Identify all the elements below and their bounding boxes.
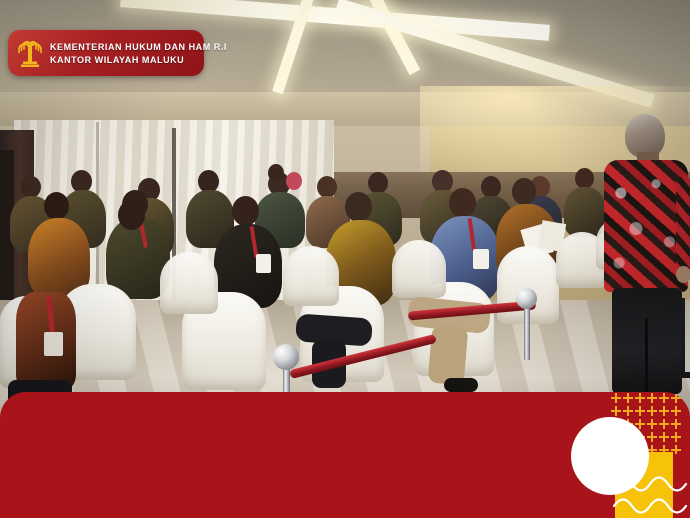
chair (160, 252, 218, 314)
wave-lines-decoration (612, 470, 690, 518)
person-head (449, 188, 476, 218)
person-head (481, 176, 501, 198)
person-head (268, 164, 284, 182)
person-head (118, 200, 145, 230)
speaker-hand (676, 266, 690, 283)
person-head (512, 178, 536, 205)
microphone-stand (681, 298, 685, 376)
institution-logo-badge: KEMENTERIAN HUKUM DAN HAM R.I KANTOR WIL… (8, 30, 204, 76)
speaker-arm (676, 176, 690, 272)
microphone-stand-base (670, 372, 690, 378)
person-head (317, 176, 337, 198)
stanchion-post (524, 300, 530, 360)
person-head (345, 192, 372, 222)
logo-line-1: KEMENTERIAN HUKUM DAN HAM R.I (50, 42, 227, 52)
person-head (232, 196, 259, 226)
id-badge-card (473, 249, 489, 269)
speaker-trouser-split (645, 318, 648, 394)
logo-line-2: KANTOR WILAYAH MALUKU (50, 55, 227, 65)
person-head (286, 172, 302, 190)
stanchion-ball-top (516, 288, 537, 309)
article-thumbnail-card: KEMENTERIAN HUKUM DAN HAM R.I KANTOR WIL… (0, 0, 690, 518)
pengayoman-banyan-tree-emblem-icon (17, 38, 43, 68)
id-badge-card (256, 254, 271, 273)
person-head (368, 172, 388, 194)
person-head (575, 168, 594, 189)
chair (392, 240, 446, 298)
person-head (21, 176, 41, 198)
id-badge-card (44, 332, 63, 356)
stanchion-ball-top (273, 344, 299, 370)
shoe (444, 378, 478, 392)
chair (283, 246, 339, 306)
person-leg (428, 325, 469, 386)
person-head (44, 192, 69, 220)
